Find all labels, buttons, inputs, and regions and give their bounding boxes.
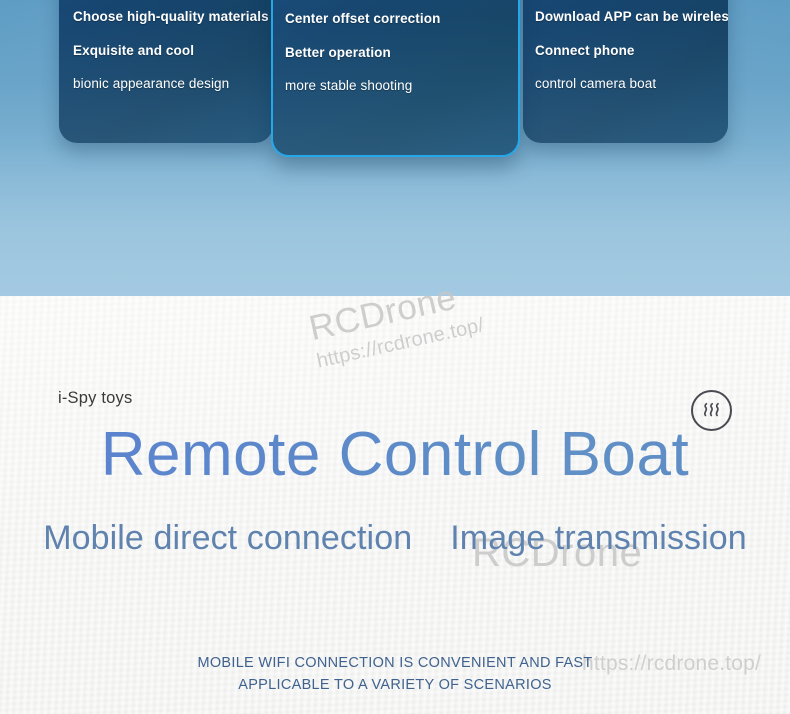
feature-card-offset-correction-lines: Center offset correction Better operatio… xyxy=(273,12,518,93)
panel-sheen xyxy=(0,140,790,296)
features-panel: Choose high-quality materials Exquisite … xyxy=(0,0,790,296)
footer-caption: MOBILE WIFI CONNECTION IS CONVENIENT AND… xyxy=(0,652,790,696)
feature-line: control camera boat xyxy=(535,77,714,91)
footer-line-2: APPLICABLE TO A VARIETY OF SCENARIOS xyxy=(0,674,790,696)
subtitle-row: Mobile direct connection Image transmiss… xyxy=(0,521,790,555)
subtitle-mobile-connection: Mobile direct connection xyxy=(43,521,412,555)
feature-line: Exquisite and cool xyxy=(73,44,259,58)
feature-line: bionic appearance design xyxy=(73,77,259,91)
feature-card-offset-correction[interactable]: Center offset correction Better operatio… xyxy=(271,0,520,157)
product-banner-page: Choose high-quality materials Exquisite … xyxy=(0,0,790,714)
feature-card-materials[interactable]: Choose high-quality materials Exquisite … xyxy=(59,0,273,143)
footer-line-1: MOBILE WIFI CONNECTION IS CONVENIENT AND… xyxy=(0,652,790,674)
page-title: Remote Control Boat xyxy=(0,424,790,486)
feature-line: more stable shooting xyxy=(285,79,504,93)
feature-card-materials-lines: Choose high-quality materials Exquisite … xyxy=(59,10,273,91)
feature-line: Download APP can be wireless xyxy=(535,10,714,24)
feature-card-app-control-lines: Download APP can be wireless Connect pho… xyxy=(523,10,728,91)
feature-line: Choose high-quality materials xyxy=(73,10,259,24)
brand-label: i-Spy toys xyxy=(58,389,132,408)
feature-line: Connect phone xyxy=(535,44,714,58)
feature-card-app-control[interactable]: Download APP can be wireless Connect pho… xyxy=(523,0,728,143)
feature-line: Better operation xyxy=(285,46,504,60)
feature-line: Center offset correction xyxy=(285,12,504,26)
subtitle-image-transmission: Image transmission xyxy=(450,521,747,555)
